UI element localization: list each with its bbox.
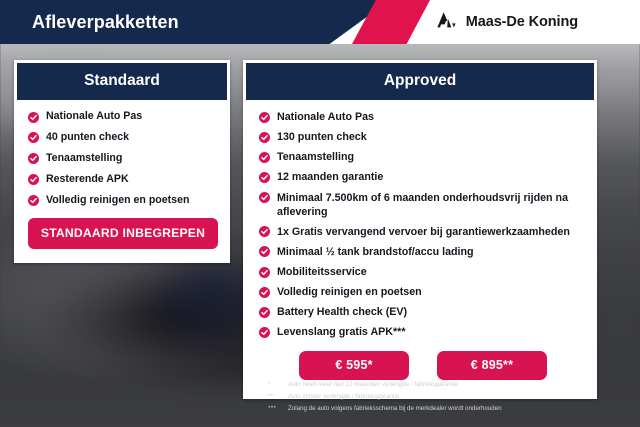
footnote-text: Auto zonder verlengde / fabrieksgarantie (288, 391, 399, 403)
price-button-595[interactable]: € 595* (299, 351, 409, 380)
feature-list-approved: Nationale Auto Pas 130 punten check (259, 110, 587, 340)
list-item: 130 punten check (259, 130, 587, 144)
feature-label: Tenaamstelling (46, 152, 122, 166)
feature-label: 130 punten check (277, 130, 367, 144)
feature-label: Nationale Auto Pas (277, 110, 374, 124)
price-button-895[interactable]: € 895** (437, 351, 547, 380)
footnote-single-asterisk: * Auto heeft meer dan 12 maanden verleng… (268, 379, 628, 391)
check-circle-icon (28, 174, 39, 185)
package-card-approved: Approved Nationale Auto Pas (243, 60, 597, 399)
list-item: Minimaal 7.500km of 6 maanden onderhouds… (259, 191, 587, 219)
list-item: Levenslang gratis APK*** (259, 325, 587, 339)
feature-label: 12 maanden garantie (277, 170, 383, 184)
check-circle-icon (28, 132, 39, 143)
list-item: Mobiliteitsservice (259, 265, 587, 279)
feature-label: 1x Gratis vervangend vervoer bij garanti… (277, 225, 570, 239)
list-item: Minimaal ½ tank brandstof/accu lading (259, 245, 587, 259)
footnote-mark: * (268, 379, 288, 391)
check-circle-icon (259, 112, 270, 123)
list-item: Resterende APK (28, 173, 218, 187)
package-card-standaard: Standaard Nationale Auto Pas (14, 60, 230, 263)
check-circle-icon (259, 152, 270, 163)
check-circle-icon (259, 226, 270, 237)
check-circle-icon (259, 267, 270, 278)
list-item: 40 punten check (28, 131, 218, 145)
feature-label: Battery Health check (EV) (277, 305, 407, 319)
check-circle-icon (259, 192, 270, 203)
footnote-mark: *** (268, 403, 288, 415)
list-item: Volledig reinigen en poetsen (259, 285, 587, 299)
footnote-text: Zolang de auto volgens fabrieksschema bi… (288, 403, 502, 415)
feature-label: Tenaamstelling (277, 150, 354, 164)
page-title: Afleverpakketten (32, 0, 179, 44)
maas-de-koning-m-logo-icon (435, 11, 457, 34)
check-circle-icon (28, 195, 39, 206)
brand-name: Maas-De Koning (466, 14, 578, 30)
footnote-double-asterisk: ** Auto zonder verlengde / fabrieksgaran… (268, 391, 628, 403)
check-circle-icon (28, 153, 39, 164)
feature-label: Nationale Auto Pas (46, 110, 142, 124)
footnote-triple-asterisk: *** Zolang de auto volgens fabrieksschem… (268, 403, 628, 415)
feature-label: Volledig reinigen en poetsen (46, 194, 189, 208)
list-item: Tenaamstelling (28, 152, 218, 166)
feature-label: Minimaal 7.500km of 6 maanden onderhouds… (277, 191, 587, 219)
card-body-approved: Nationale Auto Pas 130 punten check (243, 100, 597, 399)
card-title-standaard: Standaard (17, 63, 227, 100)
footnote-text: Auto heeft meer dan 12 maanden verlengde… (288, 379, 458, 391)
check-circle-icon (259, 246, 270, 257)
card-body-standaard: Nationale Auto Pas 40 punten check (14, 100, 230, 263)
feature-label: Minimaal ½ tank brandstof/accu lading (277, 245, 474, 259)
card-title-approved: Approved (246, 63, 594, 100)
feature-label: 40 punten check (46, 131, 129, 145)
brand-lockup: Maas-De Koning (435, 0, 578, 44)
screenshot-root: Afleverpakketten Maas-De Koning Standaar… (0, 0, 640, 427)
check-circle-icon (259, 132, 270, 143)
list-item: Tenaamstelling (259, 150, 587, 164)
standaard-inbegrepen-button[interactable]: STANDAARD INBEGREPEN (28, 218, 218, 249)
feature-label: Volledig reinigen en poetsen (277, 285, 422, 299)
list-item: Battery Health check (EV) (259, 305, 587, 319)
feature-label: Levenslang gratis APK*** (277, 325, 406, 339)
list-item: 1x Gratis vervangend vervoer bij garanti… (259, 225, 587, 239)
list-item: Nationale Auto Pas (28, 110, 218, 124)
footnotes: * Auto heeft meer dan 12 maanden verleng… (268, 379, 628, 415)
check-circle-icon (28, 112, 39, 123)
page-header: Afleverpakketten Maas-De Koning (0, 0, 640, 44)
check-circle-icon (259, 327, 270, 338)
list-item: 12 maanden garantie (259, 170, 587, 184)
list-item: Volledig reinigen en poetsen (28, 194, 218, 208)
feature-label: Resterende APK (46, 173, 129, 187)
list-item: Nationale Auto Pas (259, 110, 587, 124)
check-circle-icon (259, 172, 270, 183)
footnote-mark: ** (268, 391, 288, 403)
check-circle-icon (259, 307, 270, 318)
feature-label: Mobiliteitsservice (277, 265, 367, 279)
feature-list-standaard: Nationale Auto Pas 40 punten check (28, 110, 218, 208)
check-circle-icon (259, 287, 270, 298)
